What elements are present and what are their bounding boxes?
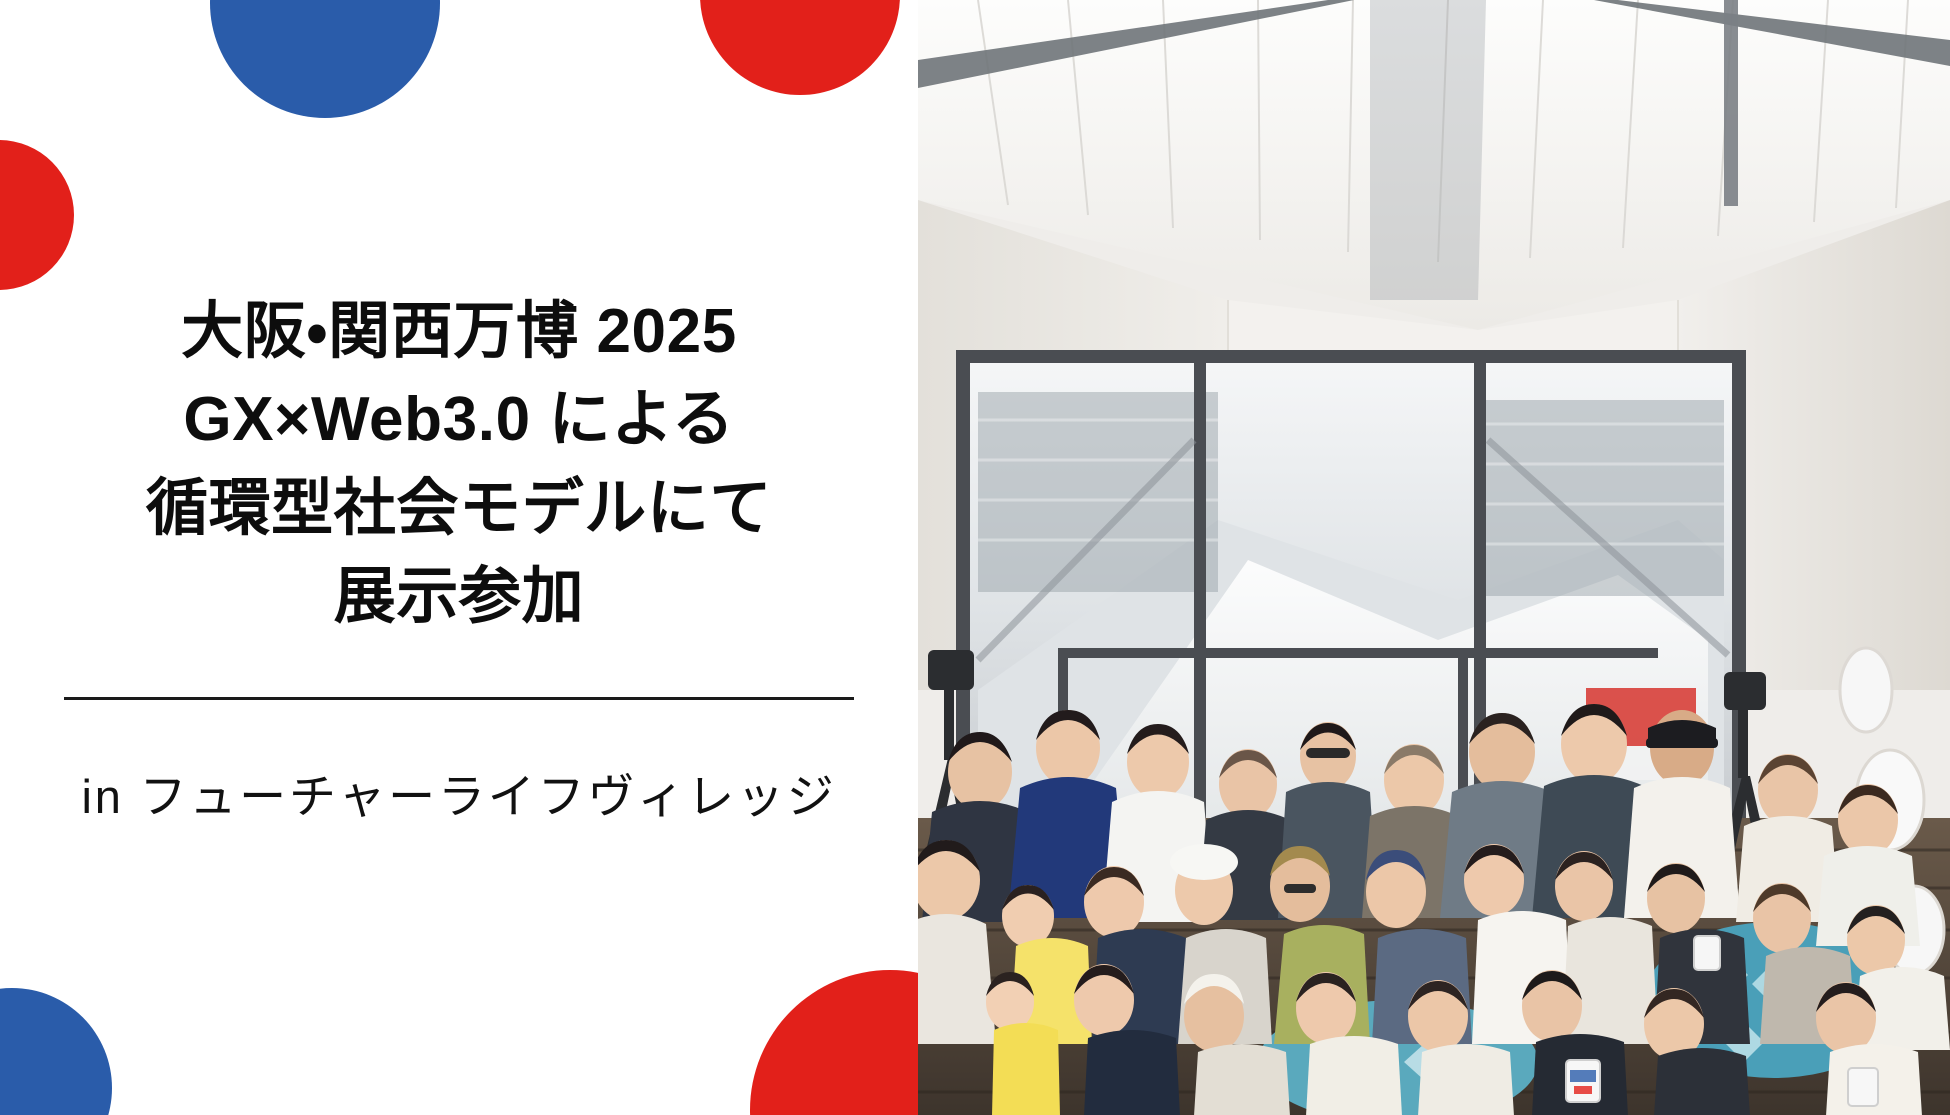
headline-group: 大阪・関西万博 2025 GX×Web3.0 による 循環型社会モデルにて 展示… (0, 0, 918, 1115)
left-text-panel: 大阪・関西万博 2025 GX×Web3.0 による 循環型社会モデルにて 展示… (0, 0, 918, 1115)
event-group-photo-image (918, 0, 1950, 1115)
headline-line-4: 展示参加 (48, 553, 870, 641)
subtitle: in フューチャーライフヴィレッジ (48, 758, 870, 827)
page-title: 大阪・関西万博 2025 GX×Web3.0 による 循環型社会モデルにて 展示… (48, 288, 870, 640)
headline-line-3: 循環型社会モデルにて (48, 465, 870, 553)
title-divider (64, 697, 854, 700)
ogp-banner: 大阪・関西万博 2025 GX×Web3.0 による 循環型社会モデルにて 展示… (0, 0, 1950, 1115)
event-group-photo (918, 0, 1950, 1115)
headline-line-1: 大阪・関西万博 2025 (48, 288, 870, 376)
headline-line-2: GX×Web3.0 による (48, 376, 870, 464)
